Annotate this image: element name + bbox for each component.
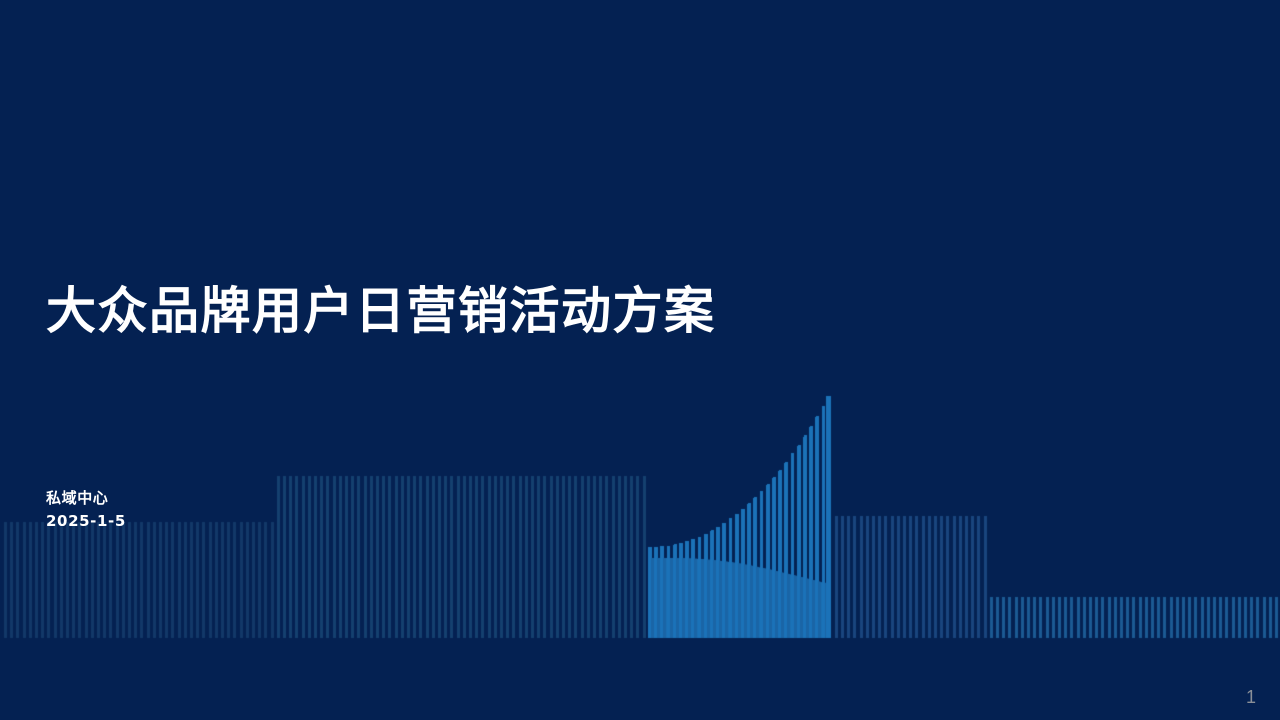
- date-label: 2025-1-5: [46, 510, 126, 533]
- department-label: 私域中心: [46, 487, 126, 510]
- page-number: 1: [1246, 687, 1256, 708]
- decorative-bar-chart-background: [0, 0, 1280, 720]
- presentation-slide: 大众品牌用户日营销活动方案 私域中心 2025-1-5 1: [0, 0, 1280, 720]
- title-block: 大众品牌用户日营销活动方案: [46, 283, 716, 339]
- byline-block: 私域中心 2025-1-5: [46, 487, 126, 534]
- page-title: 大众品牌用户日营销活动方案: [46, 283, 716, 339]
